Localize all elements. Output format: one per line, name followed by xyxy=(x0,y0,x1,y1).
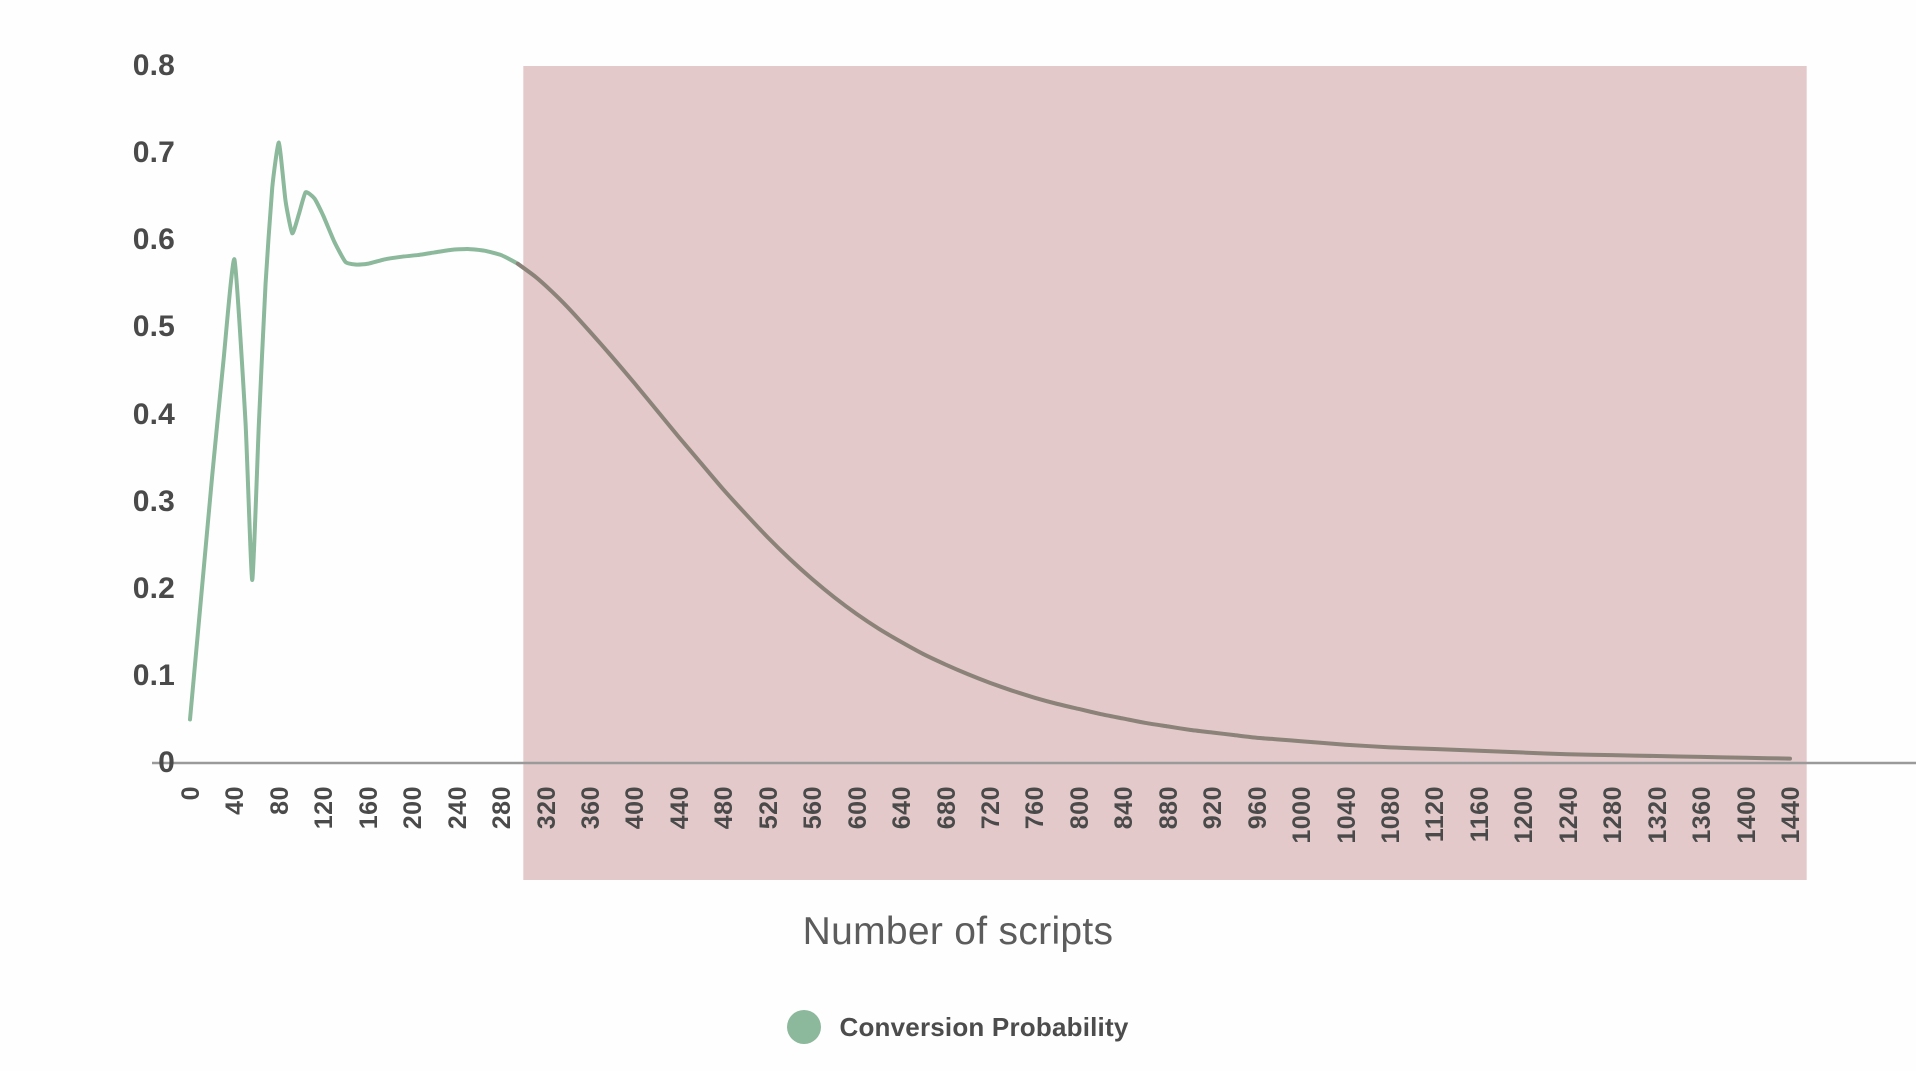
legend-item-label: Conversion Probability xyxy=(839,1012,1128,1043)
y-tick-label: 0.7 xyxy=(105,138,175,168)
y-tick-label: 0.1 xyxy=(105,661,175,691)
y-tick-label: 0.8 xyxy=(105,51,175,81)
y-tick-label: 0.4 xyxy=(105,400,175,430)
y-tick-label: 0 xyxy=(105,748,175,778)
chart-container: 00.10.20.30.40.50.60.70.8 04080120160200… xyxy=(0,0,1916,1071)
shaded-region-group xyxy=(523,66,1806,880)
legend-item[interactable]: Conversion Probability xyxy=(787,1010,1128,1044)
y-tick-label: 0.5 xyxy=(105,312,175,342)
x-axis-title: Number of scripts xyxy=(0,910,1916,954)
y-tick-label: 0.2 xyxy=(105,574,175,604)
chart-legend: Conversion Probability xyxy=(0,1010,1916,1044)
legend-circle-icon xyxy=(787,1010,821,1044)
y-tick-label: 0.6 xyxy=(105,225,175,255)
y-tick-label: 0.3 xyxy=(105,487,175,517)
highlighted-range-shade xyxy=(523,66,1806,880)
series-line-0-segment-left xyxy=(190,143,534,720)
